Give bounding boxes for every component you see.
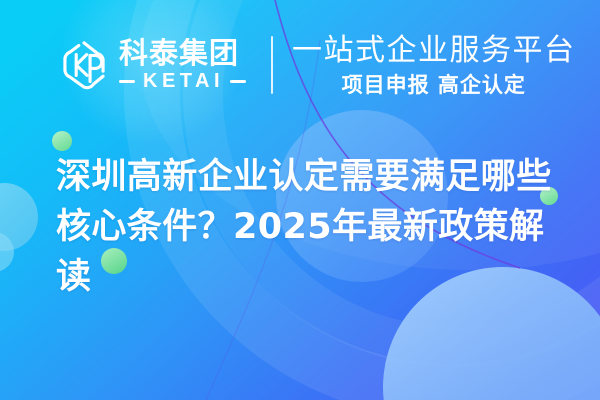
brand-name-cn: 科泰集团 xyxy=(119,38,246,68)
brand-logo[interactable]: 科泰集团 KETAI xyxy=(58,38,246,92)
bg-dot-green-upper-left xyxy=(52,131,72,151)
brand-wordmark: 科泰集团 KETAI xyxy=(119,38,246,92)
article-headline: 深圳高新企业认定需要满足哪些核心条件？2025年最新政策解读 xyxy=(56,152,556,302)
promo-banner: 科泰集团 KETAI 一站式企业服务平台 项目申报 高企认定 深圳高新企业认定需… xyxy=(0,0,600,400)
slogan-primary: 一站式企业服务平台 xyxy=(292,33,576,69)
slogan-group: 一站式企业服务平台 项目申报 高企认定 xyxy=(292,33,576,98)
brand-name-en-row: KETAI xyxy=(119,71,246,92)
header-divider xyxy=(271,36,273,94)
slogan-secondary: 项目申报 高企认定 xyxy=(292,72,576,98)
dash-right-icon xyxy=(230,80,246,83)
ketai-diamond-kp-mark xyxy=(58,38,110,92)
banner-header: 科泰集团 KETAI 一站式企业服务平台 项目申报 高企认定 xyxy=(0,0,600,130)
dash-left-icon xyxy=(119,80,135,83)
brand-name-en: KETAI xyxy=(143,71,224,92)
